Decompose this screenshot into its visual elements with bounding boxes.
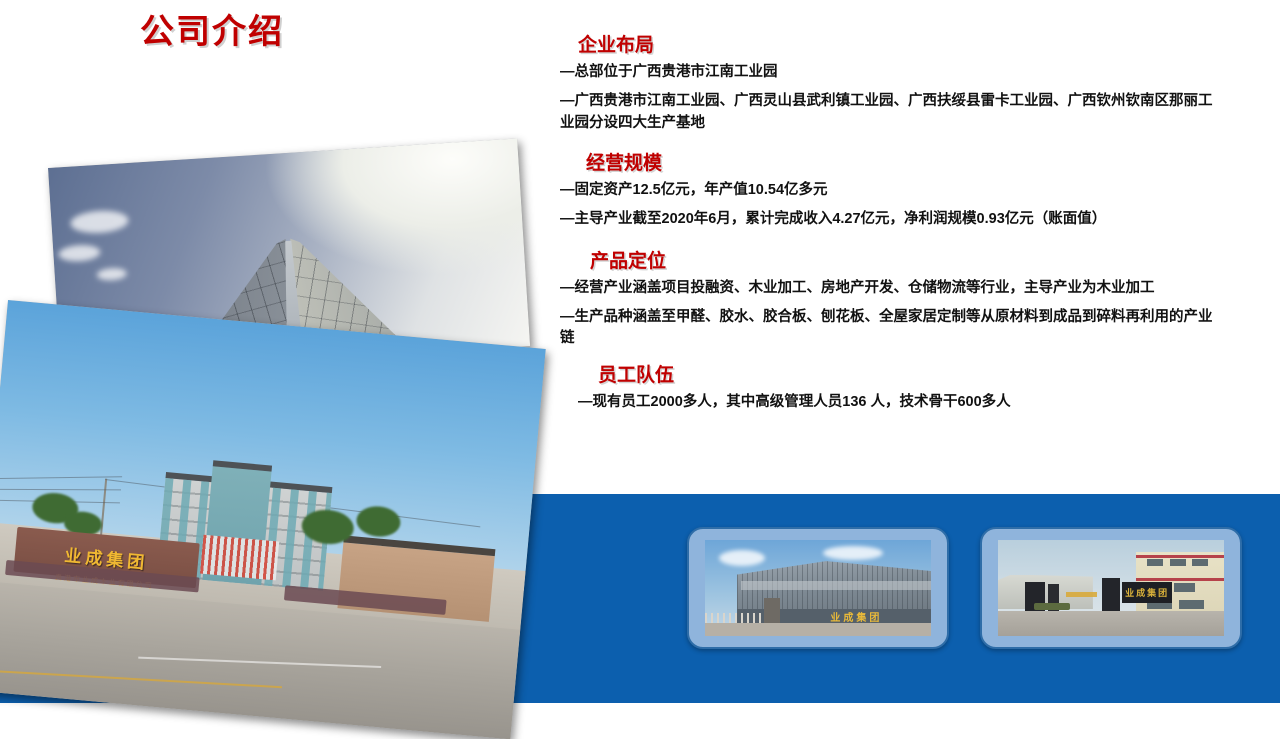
retractable-gate	[200, 534, 279, 580]
bullet-item: —经营产业涵盖项目投融资、木业加工、房地产开发、仓储物流等行业，主导产业为木业加…	[560, 278, 1220, 300]
building-window	[1170, 559, 1186, 566]
hedge-row	[1034, 603, 1070, 610]
section-heading-product: 产品定位	[560, 246, 1220, 273]
factory-gate-thumbnail: 业成集团	[980, 527, 1242, 649]
bullet-item: —总部位于广西贵港市江南工业园	[560, 62, 1220, 84]
yellow-banner	[1066, 592, 1098, 597]
gate-panel	[1102, 578, 1120, 614]
hall-band	[741, 581, 931, 590]
thumb-ground	[705, 623, 931, 636]
thumb-fence	[705, 613, 764, 623]
section-heading-layout: 企业布局	[560, 30, 1220, 57]
bullet-item: —生产品种涵盖至甲醛、胶水、胶合板、刨花板、全屋家居定制等从原材料到成品到碎料再…	[560, 307, 1220, 351]
bullet-item: —固定资产12.5亿元，年产值10.54亿多元	[560, 180, 1220, 202]
section-layout: 企业布局 —总部位于广西贵港市江南工业园 —广西贵港市江南工业园、广西灵山县武利…	[560, 30, 1220, 134]
thumbnail-image: 业成集团	[998, 540, 1224, 636]
building-stripe	[1136, 578, 1224, 580]
section-heading-staff: 员工队伍	[560, 360, 1220, 387]
cloud-shape	[823, 546, 883, 560]
gate-pillar	[764, 598, 780, 625]
factory-hall-thumbnail: 业成集团	[687, 527, 949, 649]
gate-sign-text: 业成集团	[1125, 586, 1169, 599]
thumb-ground	[998, 611, 1224, 636]
content-column: 企业布局 —总部位于广西贵港市江南工业园 —广西贵港市江南工业园、广西灵山县武利…	[560, 30, 1220, 425]
cloud-shape	[719, 550, 765, 566]
bullet-item: —广西贵港市江南工业园、广西灵山县武利镇工业园、广西扶绥县雷卡工业园、广西钦州钦…	[560, 91, 1220, 135]
bullet-item: —主导产业截至2020年6月，累计完成收入4.27亿元，净利润规模0.93亿元（…	[560, 209, 1220, 231]
building-window	[1174, 583, 1194, 592]
section-staff: 员工队伍 —现有员工2000多人，其中高级管理人员136 人，技术骨干600多人	[560, 360, 1220, 414]
gate-sign-board: 业成集团	[1122, 582, 1172, 603]
hall-sign: 业成集团	[809, 611, 904, 622]
building-stripe	[1136, 555, 1224, 558]
bullet-item: —现有员工2000多人，其中高级管理人员136 人，技术骨干600多人	[560, 392, 1220, 414]
section-scale: 经营规模 —固定资产12.5亿元，年产值10.54亿多元 —主导产业截至2020…	[560, 148, 1220, 231]
thumbnail-image: 业成集团	[705, 540, 931, 636]
page-title: 公司介绍	[140, 4, 284, 53]
building-window	[1147, 559, 1163, 566]
section-product: 产品定位 —经营产业涵盖项目投融资、木业加工、房地产开发、仓储物流等行业，主导产…	[560, 246, 1220, 350]
section-heading-scale: 经营规模	[560, 148, 1220, 175]
building-window	[1192, 559, 1208, 566]
building-window	[1179, 600, 1204, 610]
company-gate-photo: 业成集团 贵港市业成木业有限公司	[0, 300, 546, 739]
